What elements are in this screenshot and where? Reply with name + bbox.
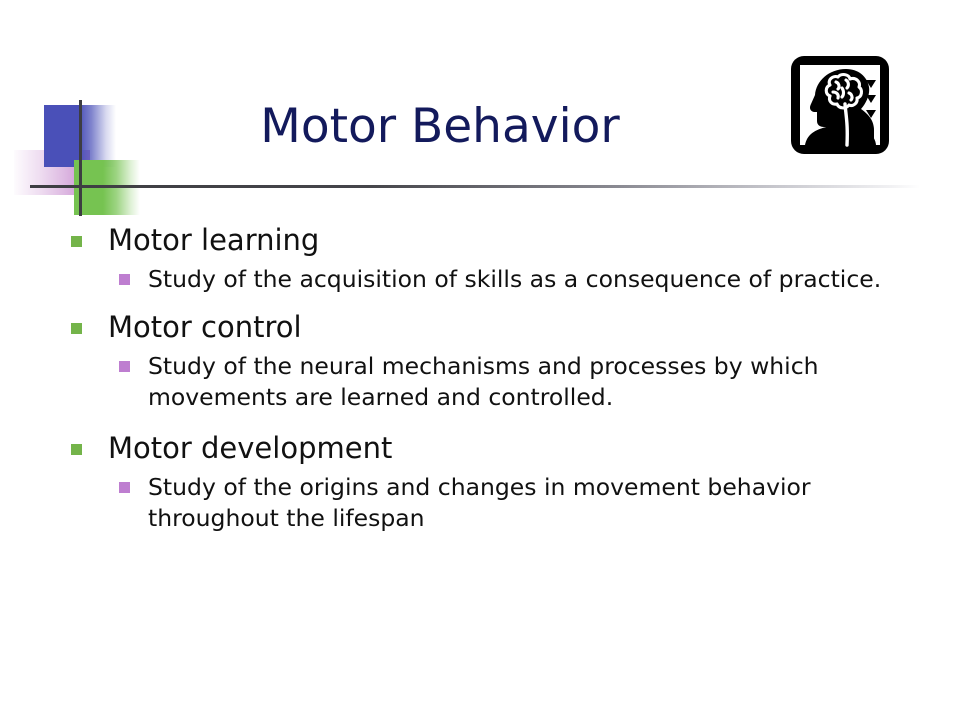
bullet-level1-label: Motor development [108, 431, 392, 465]
decorative-blue-block [44, 105, 116, 167]
bullet-level1-motor-development: Motor development [0, 426, 960, 470]
bullet-marker-level2 [119, 361, 130, 372]
decorative-pink-block [14, 150, 90, 195]
bullet-level2-motor-learning-detail: Study of the acquisition of skills as a … [0, 264, 960, 295]
decorative-vertical-rule [79, 100, 82, 216]
bullet-level1-motor-control: Motor control [0, 305, 960, 349]
decorative-horizontal-rule [30, 185, 920, 188]
bullet-level2-motor-development-detail: Study of the origins and changes in move… [0, 472, 960, 534]
slide-title: Motor Behavior [120, 98, 760, 156]
brain-head-profile-icon [789, 54, 891, 156]
slide: Motor Behavior [0, 0, 960, 720]
bullet-marker-level2 [119, 482, 130, 493]
bullet-marker-level1 [71, 444, 82, 455]
bullet-level2-label: Study of the origins and changes in move… [148, 473, 811, 532]
bullet-level1-label: Motor control [108, 310, 302, 344]
bullet-level1-motor-learning: Motor learning [0, 218, 960, 262]
bullet-level1-label: Motor learning [108, 223, 319, 257]
bullet-level2-label: Study of the acquisition of skills as a … [148, 265, 881, 293]
bullet-marker-level1 [71, 323, 82, 334]
bullet-marker-level2 [119, 274, 130, 285]
spacer [0, 417, 960, 426]
bullet-level2-motor-control-detail: Study of the neural mechanisms and proce… [0, 351, 960, 413]
slide-body: Motor learning Study of the acquisition … [0, 218, 960, 538]
bullet-level2-label: Study of the neural mechanisms and proce… [148, 352, 819, 411]
bullet-marker-level1 [71, 236, 82, 247]
